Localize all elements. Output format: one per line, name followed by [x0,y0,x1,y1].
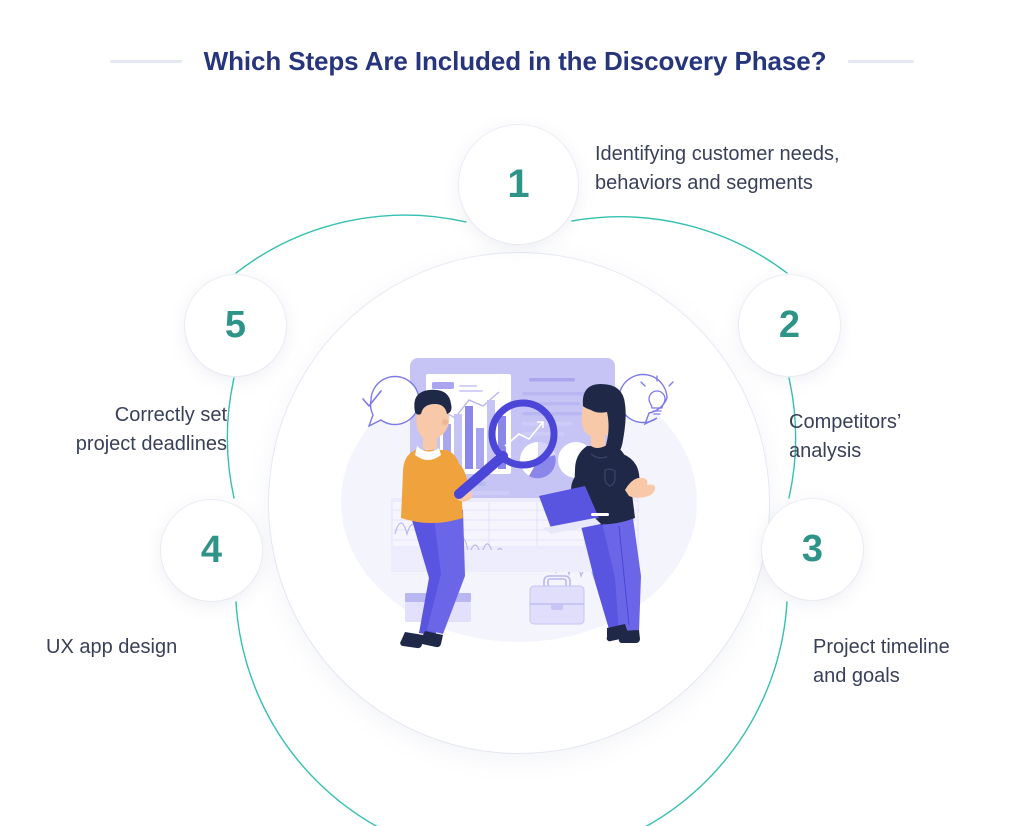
lightbulb-speech-bubble [619,375,673,424]
step-number-2: 2 [779,306,800,344]
step-number-4: 4 [201,531,222,569]
steps-circular-diagram: 1 2 3 4 5 Identifying customer needs, be… [0,96,1024,826]
ring-arc-4-5 [227,378,234,498]
header: Which Steps Are Included in the Discover… [0,36,1024,86]
step-number-5: 5 [225,306,246,344]
header-rule-right [848,60,914,63]
step-badge-4[interactable]: 4 [161,500,262,601]
step-number-3: 3 [802,530,823,568]
step-label-2: Competitors’ analysis [789,408,1009,466]
shoe-front [619,630,640,643]
ring-arc-5-1 [236,215,466,273]
step-badge-1[interactable]: 1 [459,125,578,244]
step-label-1: Identifying customer needs, behaviors an… [595,140,935,198]
step-badge-3[interactable]: 3 [762,499,863,600]
step-number-1: 1 [507,164,529,204]
header-rule-left [110,60,182,63]
page-title: Which Steps Are Included in the Discover… [204,46,827,77]
step-badge-5[interactable]: 5 [185,275,286,376]
shoe-back [400,632,423,648]
step-label-5: Correctly set project deadlines [8,401,227,459]
ring-arc-1-2 [572,217,787,273]
step-badge-2[interactable]: 2 [739,275,840,376]
data-analysis-illustration [333,350,705,650]
step-label-4: UX app design [46,633,276,662]
step-label-3: Project timeline and goals [813,633,1023,691]
checkmark-speech-bubble [363,377,419,426]
